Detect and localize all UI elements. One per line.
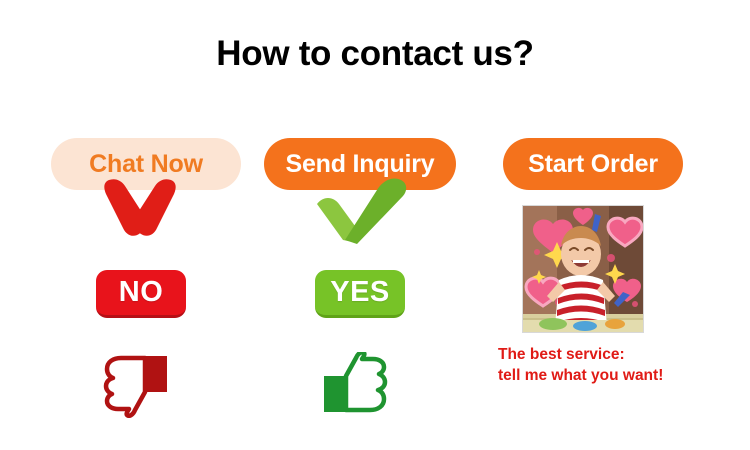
status-badge-no: NO [96,270,186,318]
column-send-inquiry: Send Inquiry YES [235,130,485,440]
service-note: The best service: tell me what you want! [498,345,663,387]
column-chat-now: Chat Now NO [15,130,265,440]
laughing-child-photo [522,205,644,333]
service-note-line-1: The best service: [498,345,663,366]
green-check-icon [313,178,409,251]
column-start-order: Start Order [468,130,718,440]
thumbs-up-icon [320,352,392,423]
page-title: How to contact us? [0,34,750,74]
red-cross-icon [103,178,177,245]
service-note-line-2: tell me what you want! [498,366,663,387]
status-badge-yes: YES [315,270,405,318]
thumbs-down-icon [101,352,173,423]
start-order-button[interactable]: Start Order [503,138,683,190]
promo-banner: How to contact us? Chat Now NO Send Inqu… [0,0,750,450]
